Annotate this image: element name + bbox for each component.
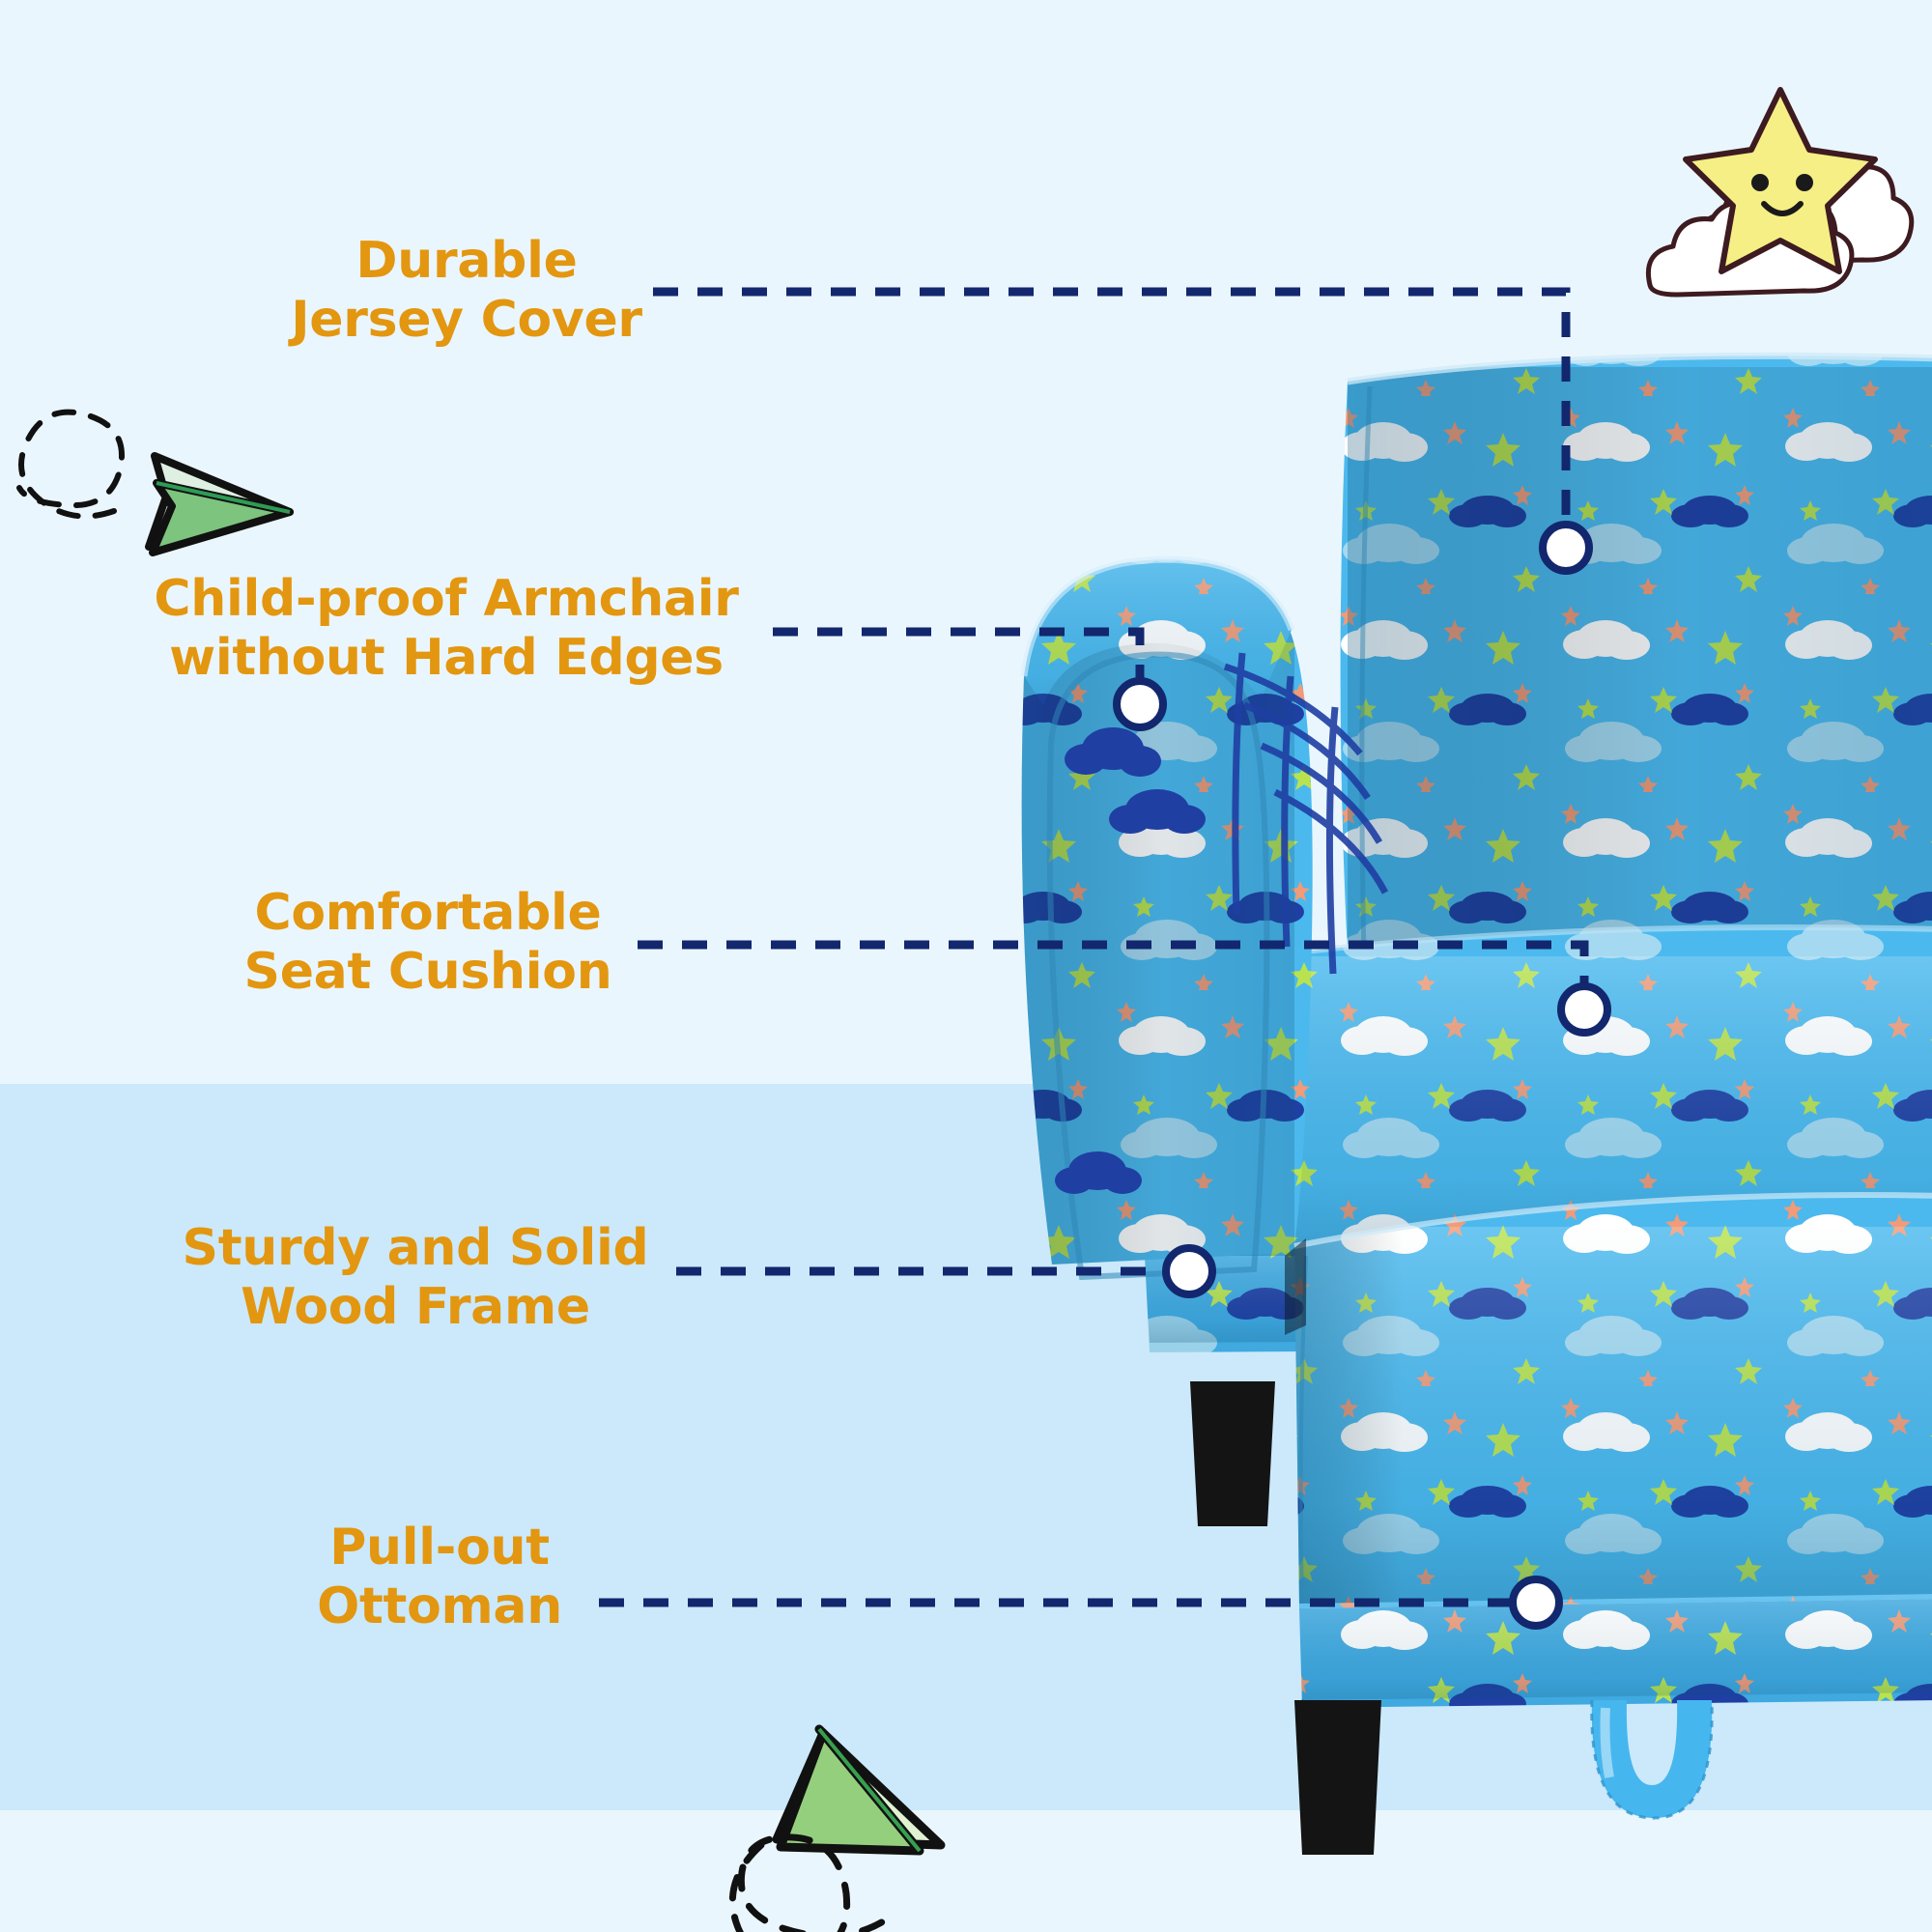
pull-out-ottoman [1275,1195,1932,1715]
ottoman-pull-strap [1592,1700,1712,1818]
infographic-canvas: Durable Jersey Cover Child-proof Armchai… [0,0,1932,1932]
callout-label-pull-out-ottoman: Pull-out Ottoman [275,1519,604,1637]
callout-label-jersey-cover: Durable Jersey Cover [259,232,674,351]
callout-label-seat-cushion: Comfortable Seat Cushion [220,884,636,1003]
callout-label-child-proof-armchair: Child-proof Armchair without Hard Edges [128,570,765,689]
callout-label-wood-frame: Sturdy and Solid Wood Frame [169,1219,662,1338]
